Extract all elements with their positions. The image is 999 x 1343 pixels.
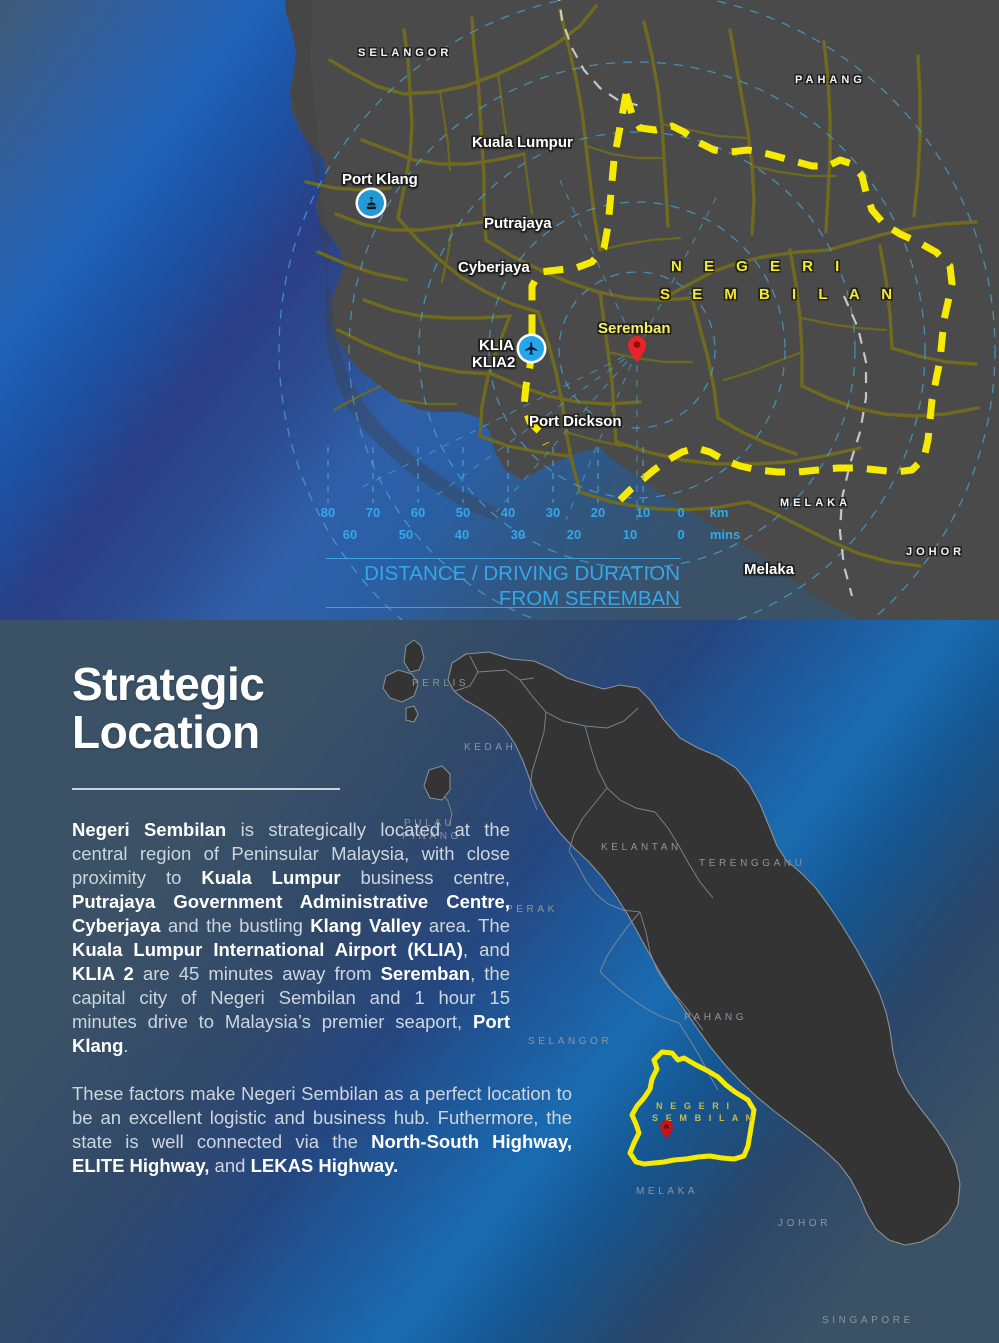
scale-row-km: 80 70 60 50 40 30 20 10 0 km <box>310 505 680 525</box>
title-divider <box>72 788 340 790</box>
scale-km-80: 80 <box>321 505 335 520</box>
scale-km-0: 0 <box>677 505 684 520</box>
scale-divider-bottom <box>326 607 681 608</box>
scale-mins-30: 30 <box>511 527 525 542</box>
scale-km-20: 20 <box>591 505 605 520</box>
scale-mins-0: 0 <box>677 527 684 542</box>
poster-root: PERLIS KEDAH PULAU PINANG PERAK KELANTAN… <box>0 0 999 1343</box>
page-title-line1: Strategic <box>72 658 264 710</box>
scale-km-40: 40 <box>501 505 515 520</box>
body-paragraph-2: These factors make Negeri Sembilan as a … <box>72 1082 572 1178</box>
airport-icon[interactable] <box>519 336 544 361</box>
scale-mins-50: 50 <box>399 527 413 542</box>
content-panel: Strategic Location Negeri Sembilan is st… <box>72 660 572 1178</box>
scale-mins-20: 20 <box>567 527 581 542</box>
map-pin-icon-seremban[interactable] <box>628 336 646 362</box>
scale-caption: DISTANCE / DRIVING DURATION FROM SEREMBA… <box>300 558 680 611</box>
scale-caption-line1: DISTANCE / DRIVING DURATION <box>300 561 680 586</box>
body-paragraph-1: Negeri Sembilan is strategically located… <box>72 818 510 1058</box>
ship-glyph <box>364 196 379 211</box>
page-title: Strategic Location <box>72 660 572 756</box>
page-title-line2: Location <box>72 706 260 758</box>
scale-row-mins: 60 50 40 30 20 10 0 mins <box>310 527 680 547</box>
map-pin-icon-lower <box>660 1120 673 1139</box>
seaport-icon[interactable] <box>358 190 384 216</box>
scale-mins-unit: mins <box>710 527 740 542</box>
scale-km-10: 10 <box>636 505 650 520</box>
distance-scale-bar: 80 70 60 50 40 30 20 10 0 km 60 50 40 30… <box>310 505 680 547</box>
airplane-glyph <box>524 341 539 356</box>
scale-km-60: 60 <box>411 505 425 520</box>
scale-km-30: 30 <box>546 505 560 520</box>
scale-mins-40: 40 <box>455 527 469 542</box>
scale-km-50: 50 <box>456 505 470 520</box>
scale-mins-60: 60 <box>343 527 357 542</box>
road-map-inset: SELANGOR PAHANG MELAKA JOHOR N E G E R I… <box>0 0 999 620</box>
scale-km-70: 70 <box>366 505 380 520</box>
scale-mins-10: 10 <box>623 527 637 542</box>
scale-km-unit: km <box>710 505 729 520</box>
scale-ticks <box>310 447 688 503</box>
